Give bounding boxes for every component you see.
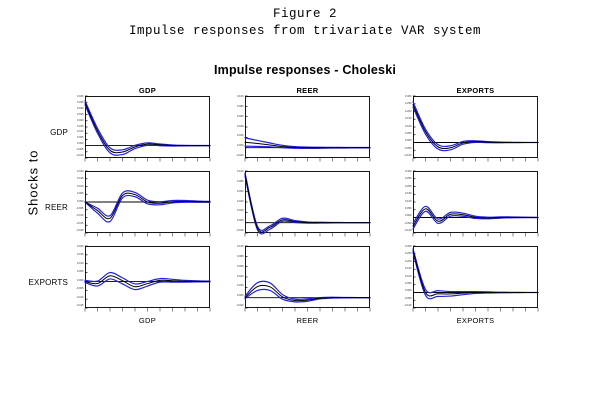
y-tick-label: 0.020	[237, 285, 244, 288]
row-label-reer: REER	[0, 203, 68, 212]
y-tick-label: 0.100	[237, 171, 244, 174]
row-label-exports: EXPORTS	[0, 278, 68, 287]
y-tick-label: 0.020	[237, 135, 244, 138]
y-tick-label: 0.250	[405, 253, 412, 256]
y-tick-label: -0.020	[236, 230, 243, 233]
column-footer-reer: REER	[245, 316, 370, 325]
column-footer-gdp: GDP	[85, 316, 210, 325]
figure-caption-line2: Impulse responses from trivariate VAR sy…	[0, 23, 610, 40]
y-tick-label: 0.040	[237, 201, 244, 204]
y-tick-label: 0.015	[77, 178, 84, 181]
y-tick-label: 0.300	[405, 96, 412, 99]
panel-exports-to-reer: 0.1000.0800.0600.0400.0200.000-0.020	[245, 246, 370, 308]
panel-plot	[245, 246, 370, 308]
y-tick-label: 0.020	[237, 210, 244, 213]
panel-exports-to-gdp: 0.0200.0150.0100.0050.000-0.005-0.010-0.…	[85, 246, 210, 308]
panel-reer-to-reer: 0.1000.0800.0600.0400.0200.000-0.020	[245, 171, 370, 233]
y-tick-label: 0.150	[405, 118, 412, 121]
y-tick-label: 0.050	[405, 283, 412, 286]
y-tick-label: 0.080	[237, 181, 244, 184]
y-tick-label: 0.000	[237, 220, 244, 223]
y-tick-label: 0.100	[405, 201, 412, 204]
y-tick-label: 0.050	[405, 133, 412, 136]
y-tick-label: 0.020	[77, 171, 84, 174]
y-tick-labels: 0.1000.0800.0600.0400.0200.000-0.020	[223, 171, 245, 233]
y-tick-label: 0.060	[237, 266, 244, 269]
y-tick-label: 0.300	[405, 171, 412, 174]
y-tick-label: -0.005	[76, 208, 83, 211]
y-tick-label: -0.100	[404, 230, 411, 233]
y-tick-label: -0.010	[76, 297, 83, 300]
y-tick-label: 0.250	[405, 178, 412, 181]
y-tick-label: 0.015	[77, 254, 84, 257]
panel-gdp-to-reer: 0.1000.0800.0600.0400.0200.000-0.020	[245, 96, 370, 158]
y-tick-label: 0.000	[77, 201, 84, 204]
y-tick-label: -0.010	[76, 215, 83, 218]
y-tick-label: -0.005	[76, 288, 83, 291]
y-tick-label: 0.100	[237, 96, 244, 99]
figure-caption-line1: Figure 2	[273, 7, 337, 21]
y-tick-label: 0.020	[77, 120, 84, 123]
panel-gdp-to-gdp: 0.0400.0350.0300.0250.0200.0150.0100.005…	[85, 96, 210, 158]
y-tick-label: 0.080	[237, 106, 244, 109]
y-tick-label: 0.000	[77, 280, 84, 283]
panel-frame	[414, 97, 538, 158]
row-label-gdp: GDP	[0, 128, 68, 137]
y-tick-label: 0.010	[77, 131, 84, 134]
y-tick-label: 0.080	[237, 256, 244, 259]
y-tick-labels: 0.0400.0350.0300.0250.0200.0150.0100.005…	[63, 96, 85, 158]
panel-gdp-to-exports: 0.3000.2500.2000.1500.1000.0500.000-0.05…	[413, 96, 538, 158]
panel-plot	[413, 246, 538, 308]
y-tick-label: -0.020	[76, 230, 83, 233]
y-tick-label: 0.005	[77, 271, 84, 274]
y-tick-label: -0.015	[76, 223, 83, 226]
column-header-reer: REER	[245, 86, 370, 95]
y-tick-label: 0.020	[77, 246, 84, 249]
panel-plot	[85, 246, 210, 308]
y-tick-label: 0.000	[237, 295, 244, 298]
y-tick-label: 0.040	[77, 96, 84, 99]
panel-exports-to-exports: 0.3000.2500.2000.1500.1000.0500.000-0.05…	[413, 246, 538, 308]
column-header-gdp: GDP	[85, 86, 210, 95]
y-tick-label: 0.005	[77, 137, 84, 140]
y-tick-label: 0.010	[77, 263, 84, 266]
y-tick-label: 0.150	[405, 268, 412, 271]
panel-frame	[414, 172, 538, 233]
y-tick-labels: 0.1000.0800.0600.0400.0200.000-0.020	[223, 246, 245, 308]
panel-plot	[245, 96, 370, 158]
y-tick-label: 0.040	[237, 126, 244, 129]
y-tick-label: 0.050	[405, 208, 412, 211]
panel-plot	[413, 171, 538, 233]
figure-caption: Figure 2 Impulse responses from trivaria…	[0, 6, 610, 40]
y-tick-label: -0.050	[404, 298, 411, 301]
y-tick-label: -0.005	[76, 149, 83, 152]
y-tick-label: -0.010	[76, 155, 83, 158]
y-tick-label: -0.100	[404, 305, 411, 308]
y-tick-label: 0.000	[405, 140, 412, 143]
y-tick-labels: 0.3000.2500.2000.1500.1000.0500.000-0.05…	[391, 96, 413, 158]
y-tick-label: 0.015	[77, 126, 84, 129]
y-tick-label: 0.200	[405, 186, 412, 189]
y-tick-label: 0.200	[405, 111, 412, 114]
panel-reer-to-exports: 0.3000.2500.2000.1500.1000.0500.000-0.05…	[413, 171, 538, 233]
y-tick-label: -0.050	[404, 223, 411, 226]
y-tick-label: 0.000	[237, 145, 244, 148]
y-tick-label: -0.015	[76, 305, 83, 308]
panel-reer-to-gdp: 0.0200.0150.0100.0050.000-0.005-0.010-0.…	[85, 171, 210, 233]
y-tick-label: 0.100	[405, 276, 412, 279]
panel-plot	[413, 96, 538, 158]
y-tick-label: -0.020	[236, 155, 243, 158]
y-tick-label: 0.100	[237, 246, 244, 249]
chart-title: Impulse responses - Choleski	[0, 63, 610, 77]
y-tick-labels: 0.3000.2500.2000.1500.1000.0500.000-0.05…	[391, 171, 413, 233]
y-tick-labels: 0.1000.0800.0600.0400.0200.000-0.020	[223, 96, 245, 158]
y-tick-label: 0.100	[405, 126, 412, 129]
y-tick-labels: 0.0200.0150.0100.0050.000-0.005-0.010-0.…	[63, 171, 85, 233]
y-tick-label: 0.000	[77, 143, 84, 146]
panel-plot	[85, 171, 210, 233]
panel-plot	[245, 171, 370, 233]
y-tick-label: 0.010	[77, 186, 84, 189]
y-tick-label: 0.300	[405, 246, 412, 249]
y-tick-label: 0.060	[237, 191, 244, 194]
y-tick-labels: 0.0200.0150.0100.0050.000-0.005-0.010-0.…	[63, 246, 85, 308]
figure-root: Figure 2 Impulse responses from trivaria…	[0, 0, 610, 400]
y-tick-label: 0.025	[77, 114, 84, 117]
y-axis-title: Shocks to	[26, 138, 41, 228]
y-tick-label: 0.030	[77, 108, 84, 111]
y-tick-label: 0.060	[237, 116, 244, 119]
y-tick-label: -0.020	[236, 305, 243, 308]
y-tick-label: 0.005	[77, 193, 84, 196]
y-tick-label: 0.040	[237, 276, 244, 279]
y-tick-label: 0.200	[405, 261, 412, 264]
y-tick-label: 0.035	[77, 102, 84, 105]
y-tick-label: 0.000	[405, 290, 412, 293]
column-header-exports: EXPORTS	[413, 86, 538, 95]
panel-frame	[86, 97, 210, 158]
y-tick-label: 0.000	[405, 215, 412, 218]
y-tick-label: -0.050	[404, 148, 411, 151]
column-footer-exports: EXPORTS	[413, 316, 538, 325]
y-tick-label: 0.150	[405, 193, 412, 196]
y-tick-labels: 0.3000.2500.2000.1500.1000.0500.000-0.05…	[391, 246, 413, 308]
panel-plot	[85, 96, 210, 158]
y-tick-label: -0.100	[404, 155, 411, 158]
y-tick-label: 0.250	[405, 103, 412, 106]
